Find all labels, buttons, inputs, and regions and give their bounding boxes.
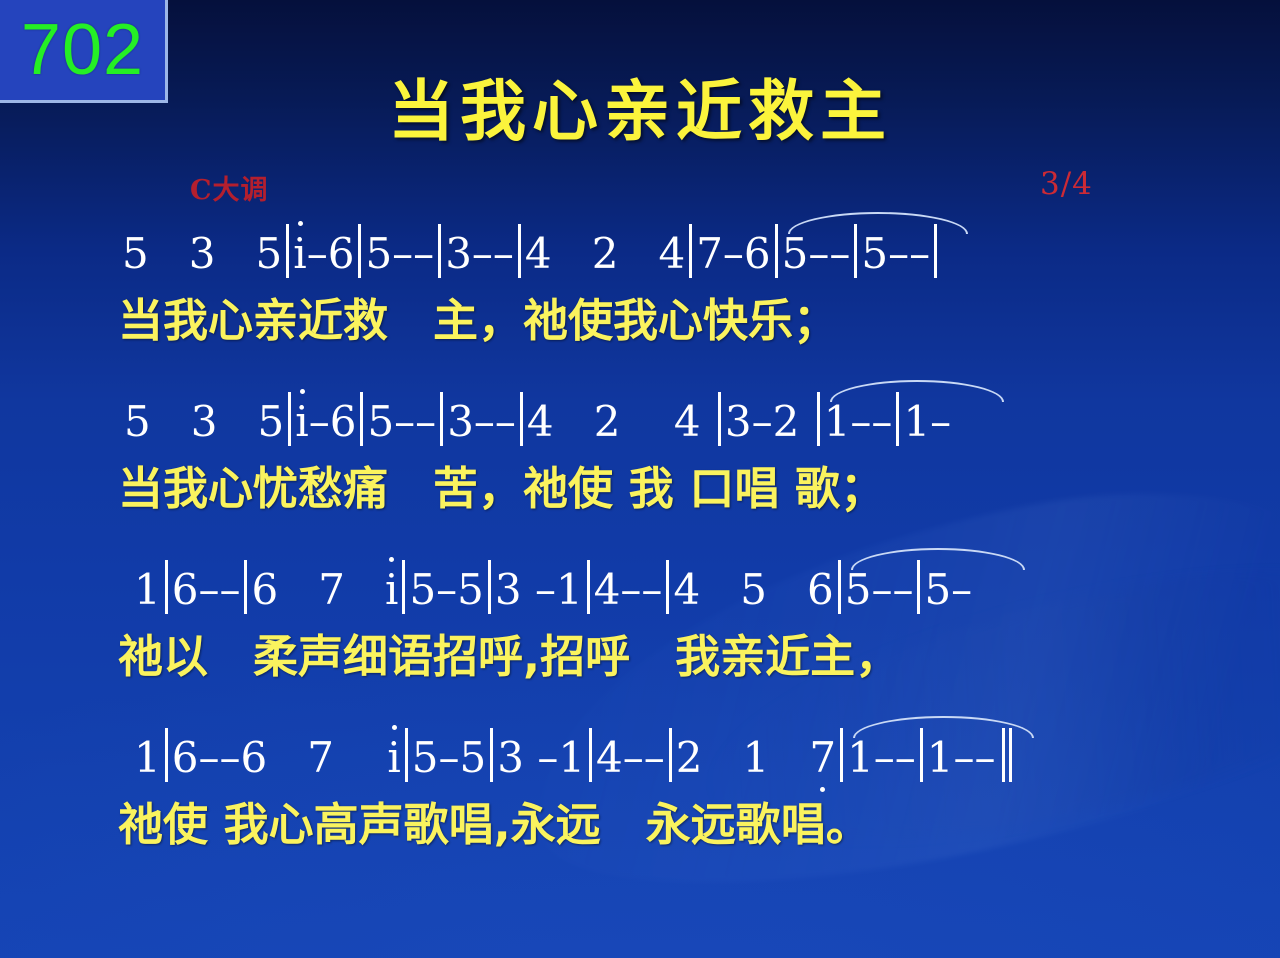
measure-tied-start: 5–– — [845, 566, 914, 614]
barline — [286, 224, 289, 278]
music-line-2: 5 3 5 i–6 5–– 3–– 4 2 4 3–2 1–– 1– 当我心忧愁… — [0, 384, 1280, 517]
measure: 7–6 — [696, 230, 770, 278]
barline — [360, 392, 363, 446]
measure: 4 5 6 — [673, 566, 833, 614]
barline — [917, 560, 920, 614]
note-high-octave: i — [385, 566, 398, 614]
barline — [405, 728, 408, 782]
barline — [520, 392, 523, 446]
barline — [838, 560, 841, 614]
barline — [587, 560, 590, 614]
measure: 5–– — [367, 398, 436, 446]
measure-pickup: 1 — [134, 734, 161, 782]
barline — [589, 728, 592, 782]
barline — [666, 560, 669, 614]
barline — [817, 392, 820, 446]
key-signature-label: C大调 — [190, 168, 269, 207]
final-barline — [1002, 728, 1005, 782]
measure: 4–– — [596, 734, 665, 782]
measure: 5 3 5 — [122, 230, 282, 278]
measure-tied-end: 5–– — [861, 230, 930, 278]
measure-tied-start: 5–– — [782, 230, 851, 278]
measure-tied-start: 1–– — [847, 734, 916, 782]
measure: i–6 — [295, 398, 356, 446]
note-high-octave: i — [387, 734, 400, 782]
measure: 5–5 — [409, 566, 483, 614]
barline — [775, 224, 778, 278]
measure: 3–– — [445, 230, 514, 278]
measure-tied-start: 1–– — [824, 398, 893, 446]
measure-tied-end: 1– — [903, 398, 951, 446]
measure: 6––6 7 i — [172, 734, 401, 782]
barline — [896, 392, 899, 446]
measure: 3 –1 — [495, 566, 583, 614]
barline — [934, 224, 937, 278]
barline — [438, 224, 441, 278]
note-high-octave: i — [295, 398, 308, 446]
barline — [840, 728, 843, 782]
barline — [358, 224, 361, 278]
measure-pickup: 1 — [134, 566, 161, 614]
measure: 6–– — [172, 566, 241, 614]
barline — [488, 560, 491, 614]
barline — [288, 392, 291, 446]
note-high-octave: i — [293, 230, 306, 278]
lyrics-row-2: 当我心忧愁痛 苦，祂使 我 口唱 歌； — [0, 452, 1280, 517]
time-signature-label: 3/4 — [1040, 166, 1093, 202]
measure: 2 1 7 — [676, 734, 836, 782]
hymn-slide: 702 当我心亲近救主 C大调 3/4 5 3 5 i–6 5–– 3–– 4 … — [0, 0, 1280, 958]
barline — [854, 224, 857, 278]
music-line-1: 5 3 5 i–6 5–– 3–– 4 2 4 7–6 5–– 5–– 当我心亲… — [0, 216, 1280, 349]
measure: 5–– — [365, 230, 434, 278]
measure: 5–5 — [412, 734, 486, 782]
barline — [165, 560, 168, 614]
lyrics-row-1: 当我心亲近救 主，祂使我心快乐； — [0, 284, 1280, 349]
notation-row-1: 5 3 5 i–6 5–– 3–– 4 2 4 7–6 5–– 5–– — [0, 216, 1280, 278]
barline — [718, 392, 721, 446]
measure: 4–– — [594, 566, 663, 614]
barline — [402, 560, 405, 614]
measure: 6 7 i — [251, 566, 398, 614]
barline — [165, 728, 168, 782]
notation-row-4: 1 6––6 7 i 5–5 3 –1 4–– 2 1 7 1–– 1–– — [0, 720, 1280, 782]
measure: 3–2 — [725, 398, 813, 446]
note-low-octave: 7 — [809, 734, 836, 782]
barline — [518, 224, 521, 278]
measure: 4 2 4 — [525, 230, 685, 278]
barline — [490, 728, 493, 782]
barline — [244, 560, 247, 614]
page-title: 当我心亲近救主 — [0, 58, 1280, 154]
music-line-3: 1 6–– 6 7 i 5–5 3 –1 4–– 4 5 6 5–– 5– 祂以… — [0, 552, 1280, 685]
barline — [920, 728, 923, 782]
barline — [440, 392, 443, 446]
barline — [689, 224, 692, 278]
lyrics-row-3: 祂以 柔声细语招呼,招呼 我亲近主， — [0, 620, 1280, 685]
notation-row-2: 5 3 5 i–6 5–– 3–– 4 2 4 3–2 1–– 1– — [0, 384, 1280, 446]
barline — [669, 728, 672, 782]
measure: 3–– — [447, 398, 516, 446]
measure: 5 3 5 — [124, 398, 284, 446]
measure: 4 2 4 — [527, 398, 714, 446]
measure-tied-end: 5– — [924, 566, 972, 614]
measure-tied-end: 1–– — [927, 734, 996, 782]
music-line-4: 1 6––6 7 i 5–5 3 –1 4–– 2 1 7 1–– 1–– 祂使… — [0, 720, 1280, 853]
measure: 3 –1 — [497, 734, 585, 782]
lyrics-row-4: 祂使 我心高声歌唱,永远 永远歌唱。 — [0, 788, 1280, 853]
measure: i–6 — [293, 230, 354, 278]
notation-row-3: 1 6–– 6 7 i 5–5 3 –1 4–– 4 5 6 5–– 5– — [0, 552, 1280, 614]
